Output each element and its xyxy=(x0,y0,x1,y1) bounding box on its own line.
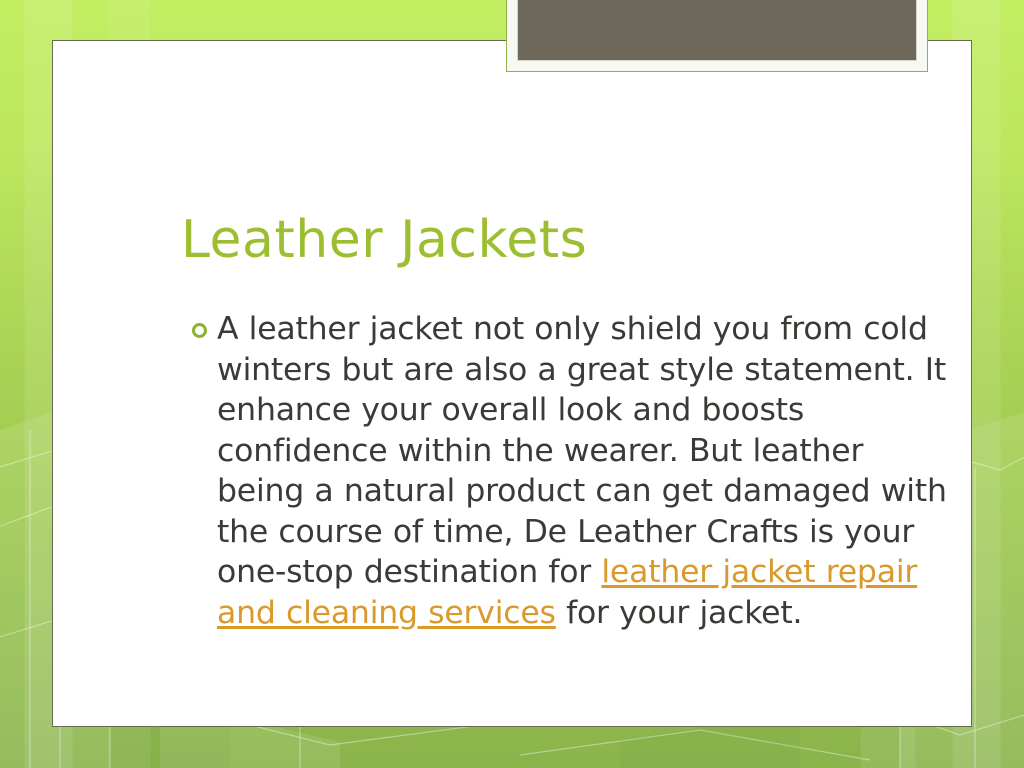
ring-bullet-icon xyxy=(192,323,207,338)
bullet-list-item: A leather jacket not only shield you fro… xyxy=(189,309,949,633)
paragraph-text-after-link: for your jacket. xyxy=(556,595,803,631)
slide-canvas: Leather Jackets A leather jacket not onl… xyxy=(0,0,1024,768)
page-title: Leather Jackets xyxy=(181,211,981,271)
paragraph-text-before-link: A leather jacket not only shield you fro… xyxy=(217,311,947,590)
top-banner-fill xyxy=(517,0,917,61)
content-panel: Leather Jackets A leather jacket not onl… xyxy=(52,40,972,727)
top-decorative-banner xyxy=(506,0,928,72)
body-content: A leather jacket not only shield you fro… xyxy=(189,309,949,633)
bullet-paragraph: A leather jacket not only shield you fro… xyxy=(217,309,949,633)
